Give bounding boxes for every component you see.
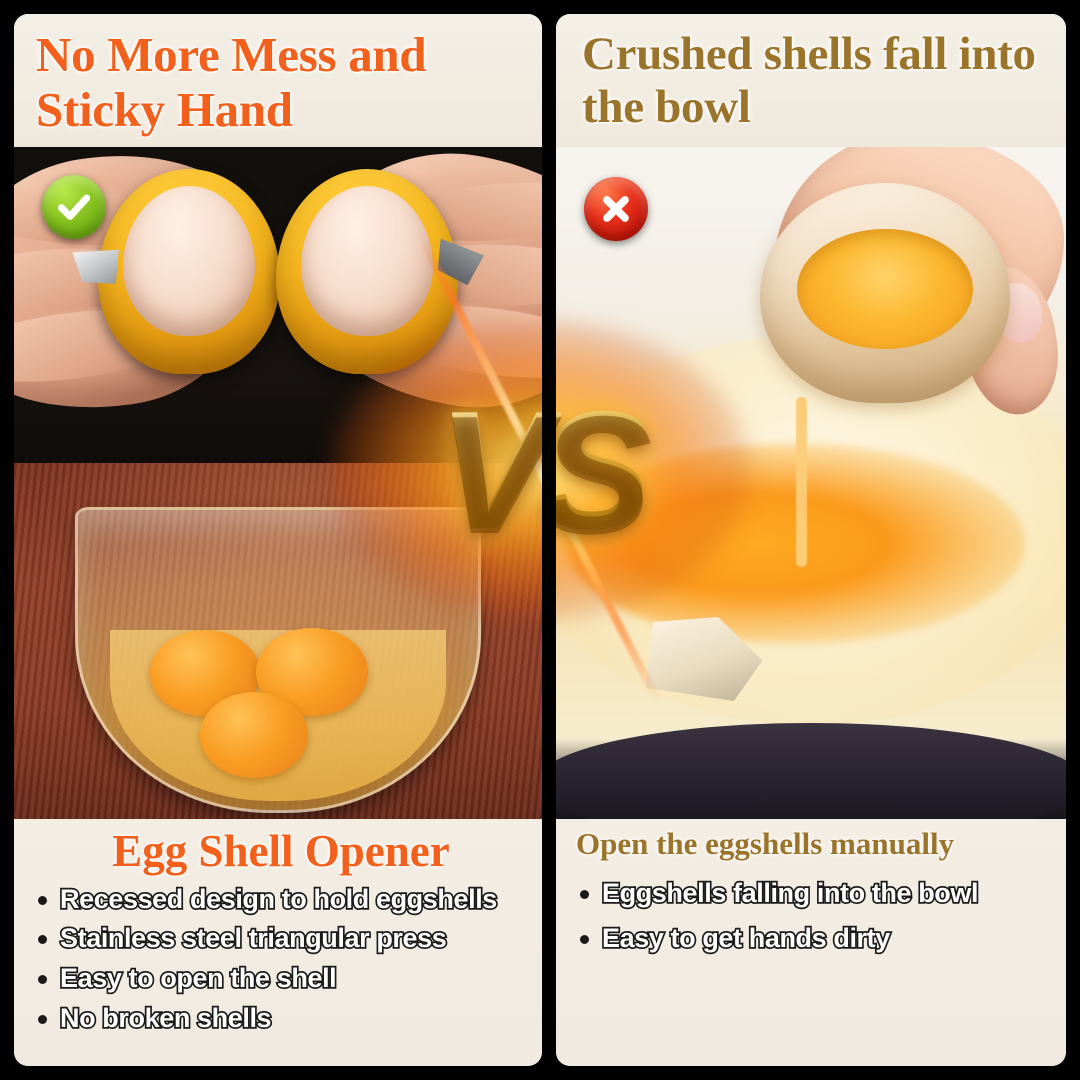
right-panel: Crushed shells fall into the bowl Open t [556,14,1066,1066]
eggshell-half [123,186,255,336]
dripping-egg-white [796,397,807,567]
right-header: Crushed shells fall into the bowl [556,14,1066,147]
egg-shell-opener-tool [98,169,458,399]
eggshell-half [301,186,433,336]
panel-divider [542,0,556,1080]
right-photo [556,147,1066,819]
list-item: Easy to get hands dirty [574,922,1054,955]
egg-yolk [797,229,973,349]
left-headline: No More Mess and Sticky Hand [36,28,524,138]
list-item: Easy to open the shell [32,962,530,995]
red-cross-badge [584,177,648,241]
list-item: Recessed design to hold eggshells [32,883,530,916]
egg-yolk [200,692,308,778]
cracked-eggshell-half [760,183,1010,403]
left-text-block: Egg Shell Opener Recessed design to hold… [14,819,542,1066]
left-feature-list: Recessed design to hold eggshells Stainl… [32,883,530,1036]
list-item: No broken shells [32,1002,530,1035]
left-subtitle: Egg Shell Opener [32,827,530,877]
left-panel: No More Mess and Sticky Hand [14,14,542,1066]
right-drawback-list: Eggshells falling into the bowl Easy to … [574,877,1054,955]
comparison-infographic: No More Mess and Sticky Hand [0,0,1080,1080]
right-subtitle: Open the eggshells manually [574,827,1054,861]
right-text-block: Open the eggshells manually Eggshells fa… [556,819,1066,1066]
opener-cup-left [98,169,280,374]
green-check-badge [42,175,106,239]
list-item: Stainless steel triangular press [32,922,530,955]
opener-cup-right [276,169,458,374]
bowl-rim [556,723,1066,819]
list-item: Eggshells falling into the bowl [574,877,1054,910]
left-header: No More Mess and Sticky Hand [14,14,542,147]
right-headline: Crushed shells fall into the bowl [582,28,1048,133]
left-photo [14,147,542,819]
